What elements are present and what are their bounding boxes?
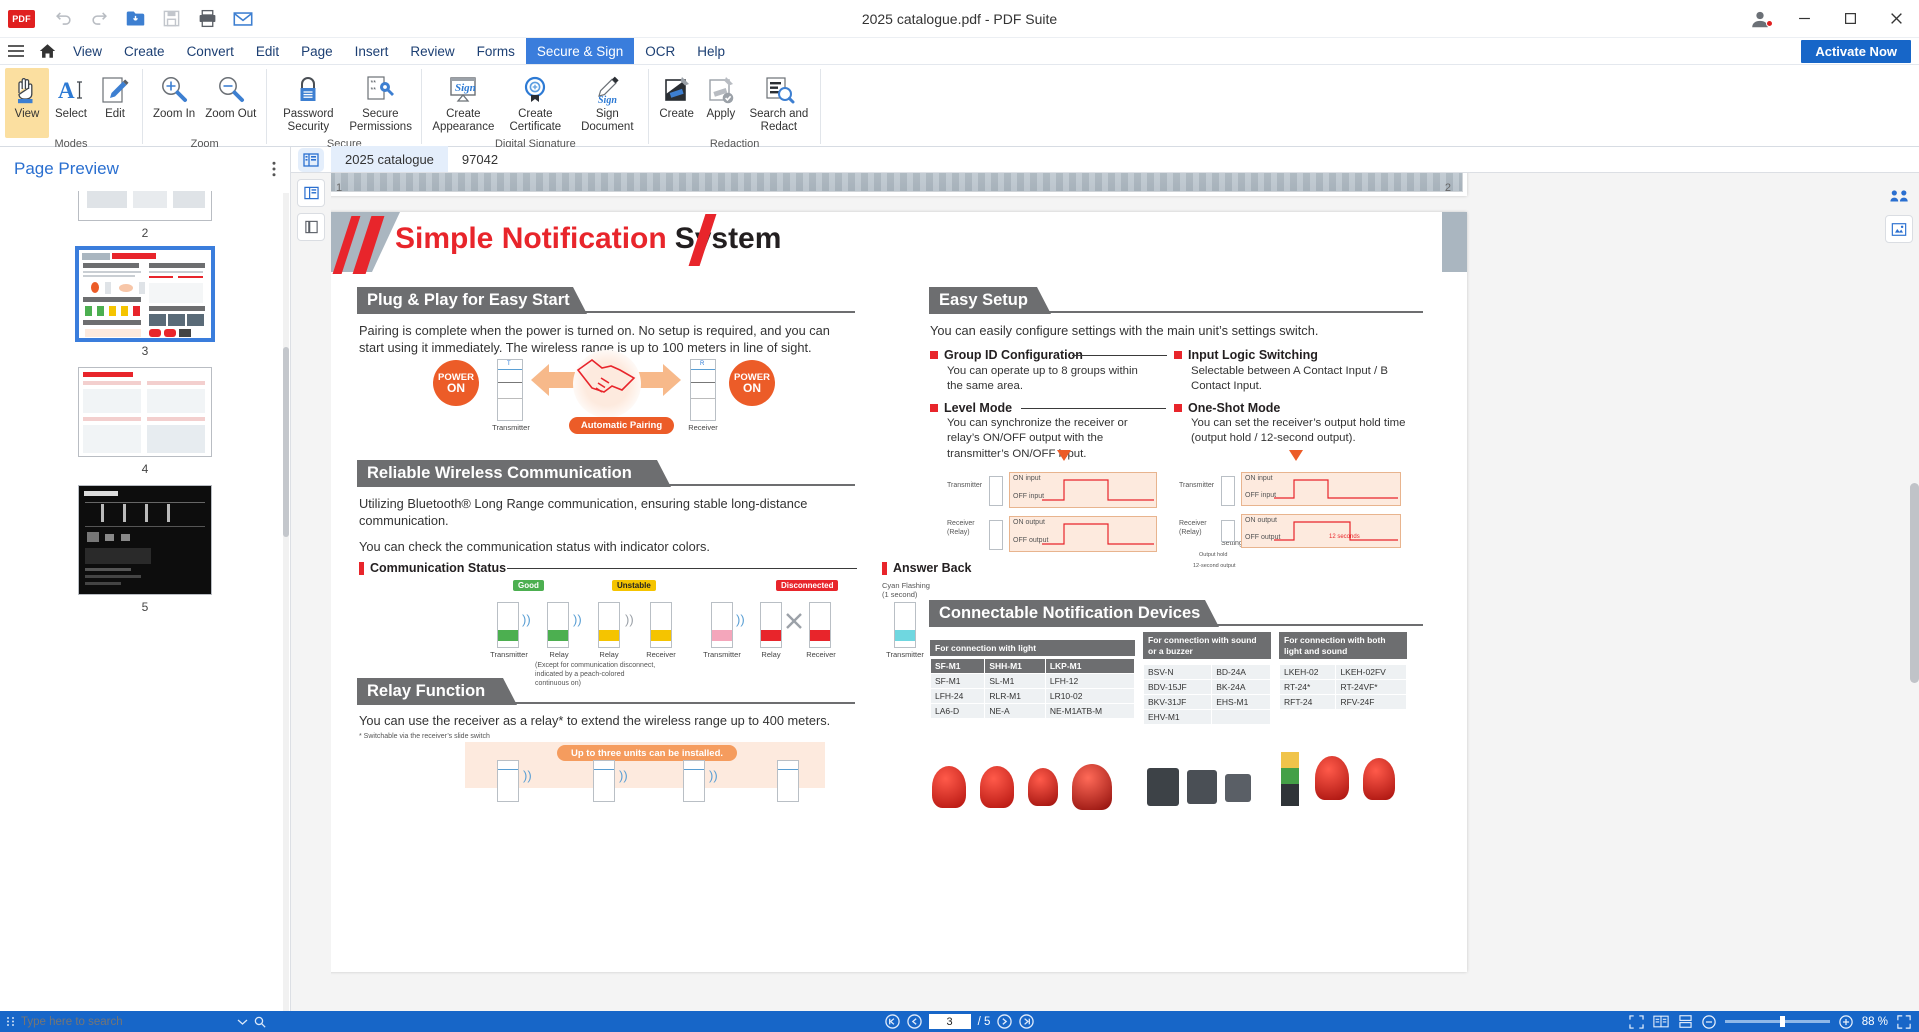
section-rule xyxy=(1217,624,1423,626)
close-button[interactable] xyxy=(1873,0,1919,38)
table-caption-both: For connection with both light and sound xyxy=(1279,632,1407,659)
password-security-label: Password Security xyxy=(277,108,339,133)
svg-text:Sign: Sign xyxy=(598,95,617,106)
table-both: LKEH-02 LKEH-02FV RT-24* RT-24VF* RFT-24… xyxy=(1279,664,1407,710)
answer-back-note: Cyan Flashing (1 second) xyxy=(882,581,972,600)
table-row: RFT-24 RFV-24F xyxy=(1280,695,1407,710)
zoom-slider-knob[interactable] xyxy=(1780,1016,1785,1027)
page-label-left: 1 xyxy=(336,182,342,194)
beacon-light xyxy=(1072,764,1112,810)
continuous-scroll-icon[interactable] xyxy=(1678,1015,1693,1028)
sidebar-scrollbar-track[interactable] xyxy=(283,193,289,1011)
redaction-apply-label: Apply xyxy=(706,108,735,121)
table-caption-light: For connection with light xyxy=(930,640,1135,656)
section-body-reliable-2: You can check the communication status w… xyxy=(359,538,849,555)
hand-icon xyxy=(12,70,42,106)
redact-create-icon xyxy=(662,70,692,106)
page-preview-title: Page Preview xyxy=(14,159,119,179)
fit-page-icon[interactable] xyxy=(1629,1015,1644,1029)
maximize-button[interactable] xyxy=(1827,0,1873,38)
email-icon[interactable] xyxy=(227,3,259,35)
section-body-reliable-1: Utilizing Bluetooth® Long Range communic… xyxy=(359,495,839,530)
search-redact-icon xyxy=(763,70,795,106)
status-device xyxy=(894,602,916,648)
table-cell: RLR-M1 xyxy=(985,689,1046,704)
table-row: SF-M1 SL-M1 LFH-12 xyxy=(931,674,1135,689)
table-caption-sound: For connection with sound or a buzzer xyxy=(1143,632,1271,659)
section-body-easy-setup: You can easily configure settings with t… xyxy=(930,322,1410,339)
section-footnote-reliable: (Except for communication disconnect, in… xyxy=(535,662,735,688)
panel-toggle-icon-col xyxy=(291,148,331,172)
quick-access-toolbar xyxy=(47,3,259,35)
table-cell: LKEH-02FV xyxy=(1336,665,1407,680)
table-row: LA6-D NE-A NE-M1ATB-M xyxy=(931,704,1135,719)
document-tabstrip: 2025 catalogue 97042 xyxy=(291,147,1919,173)
page-preview-panel: Page Preview 2 xyxy=(0,147,291,1011)
feature-title-level-mode: Level Mode xyxy=(930,401,1012,415)
window-title: 2025 catalogue.pdf - PDF Suite xyxy=(0,11,1919,27)
buzzer-device xyxy=(1225,774,1251,802)
arrow-right-icon xyxy=(635,362,683,412)
table-cell xyxy=(1212,710,1271,725)
section-heading-plug-and-play: Plug & Play for Easy Start xyxy=(357,287,587,314)
table-cell: EHV-M1 xyxy=(1144,710,1212,725)
down-arrow-icon xyxy=(1289,448,1303,462)
save-as-icon[interactable] xyxy=(119,3,151,35)
beacon-light xyxy=(980,766,1014,808)
status-tag-good: Good xyxy=(513,580,544,591)
viewer-right-rail xyxy=(1879,173,1919,1011)
svg-text:**: ** xyxy=(371,87,377,94)
chevron-down-icon[interactable] xyxy=(237,1018,248,1026)
red-bar-marker xyxy=(882,562,887,575)
search-and-redact-label: Search and Redact xyxy=(748,108,810,133)
page-preview-options-icon[interactable] xyxy=(272,161,276,177)
table-cell: NE-M1ATB-M xyxy=(1045,704,1134,719)
certificate-icon xyxy=(520,70,550,106)
svg-text:**: ** xyxy=(371,80,377,87)
page-thumbnail-selected[interactable] xyxy=(78,249,212,339)
status-device xyxy=(760,602,782,648)
select-mode-label: Select xyxy=(55,108,87,121)
save-icon[interactable] xyxy=(155,3,187,35)
timing-diagram-one-shot: Transmitter Receiver (Relay) Setting ON … xyxy=(1179,462,1409,572)
page-number-label: 3 xyxy=(142,344,149,358)
device-photo-row-lights xyxy=(930,762,1130,812)
power-on-left: POWER ON xyxy=(433,360,479,406)
search-input[interactable] xyxy=(21,1016,231,1028)
viewer-left-rail xyxy=(291,173,331,1011)
power-label-bottom: ON xyxy=(743,383,761,394)
create-certificate-button[interactable]: Create Certificate xyxy=(499,68,571,138)
view-mode-button[interactable]: View xyxy=(5,68,49,138)
signal-wave-icon: )) xyxy=(523,768,532,783)
zoom-out-label: Zoom Out xyxy=(205,108,256,121)
down-arrow-icon xyxy=(1057,448,1071,462)
table-cell: RFV-24F xyxy=(1336,695,1407,710)
key-document-icon: ** ** xyxy=(364,70,396,106)
timing-device-transmitter xyxy=(989,476,1003,506)
page-thumbnails-toggle[interactable] xyxy=(298,148,324,172)
search-icon[interactable] xyxy=(254,1016,266,1028)
timing-device-transmitter xyxy=(1221,476,1235,506)
relay-device xyxy=(683,760,705,802)
status-device xyxy=(809,602,831,648)
secure-permissions-label: Secure Permissions xyxy=(349,108,411,133)
table-sound: BSV-N BD-24A BDV-15JF BK-24A BKV-31JF EH… xyxy=(1143,664,1271,725)
table-cell: LA6-D xyxy=(931,704,985,719)
status-device xyxy=(497,602,519,648)
notification-dot xyxy=(1766,20,1773,27)
status-tag-disconnected: Disconnected xyxy=(776,580,838,591)
menu-item-page[interactable]: Page xyxy=(290,38,344,64)
device-label: Transmitter xyxy=(879,650,931,659)
beacon-light xyxy=(1028,768,1058,806)
device-label-transmitter: Transmitter xyxy=(487,423,535,432)
power-on-right: POWER ON xyxy=(729,360,775,406)
feature-body-input-logic: Selectable between A Contact Input / B C… xyxy=(1191,364,1411,395)
sign-document-button[interactable]: Sign Sign Document xyxy=(571,68,643,138)
print-icon[interactable] xyxy=(191,3,223,35)
account-avatar[interactable] xyxy=(1739,0,1781,38)
feature-label: Level Mode xyxy=(944,401,1012,415)
table-cell: RFT-24 xyxy=(1280,695,1336,710)
signal-wave-icon: )) xyxy=(625,612,634,627)
table-cell: SL-M1 xyxy=(985,674,1046,689)
table-light: SF-M1 SHH-M1 LKP-M1 SF-M1 SL-M1 LFH-12 L… xyxy=(930,658,1135,719)
section-body-relay: You can use the receiver as a relay* to … xyxy=(359,712,859,729)
timing-waveform xyxy=(1042,472,1154,552)
feature-label: Input Logic Switching xyxy=(1188,348,1318,362)
current-page-input[interactable] xyxy=(929,1014,971,1029)
timing-label-transmitter: Transmitter xyxy=(1179,482,1214,491)
section-heading-relay-function: Relay Function xyxy=(357,678,517,705)
device-transmitter-left: T xyxy=(497,359,523,421)
table-cell: BD-24A xyxy=(1212,665,1271,680)
activate-now-button[interactable]: Activate Now xyxy=(1801,40,1911,63)
sign-board-icon: Sign xyxy=(446,70,480,106)
list-item[interactable]: 4 xyxy=(0,367,290,485)
sign-document-label: Sign Document xyxy=(576,108,638,133)
svg-text:Sign: Sign xyxy=(455,82,476,94)
timing-row-label: ON input xyxy=(1245,475,1273,484)
feature-rule xyxy=(1072,355,1167,356)
menu-item-view[interactable]: View xyxy=(62,38,113,64)
device-photo-row-combo xyxy=(1277,752,1417,812)
page-title-black: System xyxy=(675,222,782,256)
section-footnote-relay: * Switchable via the receiver’s slide sw… xyxy=(359,733,659,742)
timing-device-receiver xyxy=(1221,520,1235,542)
subheading-rule xyxy=(507,568,857,569)
ribbon-divider xyxy=(820,69,821,144)
create-appearance-label: Create Appearance xyxy=(432,108,494,133)
page-label-right: 2 xyxy=(1445,182,1451,194)
redaction-apply-button[interactable]: Apply xyxy=(699,68,743,138)
svg-text:A: A xyxy=(58,78,75,103)
table-cell: BK-24A xyxy=(1212,680,1271,695)
table-cell: BDV-15JF xyxy=(1144,680,1212,695)
switch-label-12-second: 12-second output xyxy=(1193,563,1236,570)
table-cell: LR10-02 xyxy=(1045,689,1134,704)
ribbon-group-digital-signature: Sign Create Appearance Create Certificat… xyxy=(422,65,648,146)
table-cell: BKV-31JF xyxy=(1144,695,1212,710)
relay-device xyxy=(777,760,799,802)
total-pages-label: / 5 xyxy=(978,1016,991,1028)
status-device xyxy=(711,602,733,648)
menu-item-forms[interactable]: Forms xyxy=(466,38,526,64)
table-cell: SF-M1 xyxy=(931,659,985,674)
timing-row-label: OFF input xyxy=(1013,493,1044,502)
arrow-left-icon xyxy=(529,362,577,412)
red-square-marker xyxy=(1174,404,1182,412)
table-cell: LKEH-02 xyxy=(1280,665,1336,680)
timing-row-label: OFF input xyxy=(1245,492,1276,501)
sidebar-scrollbar-thumb[interactable] xyxy=(283,347,289,537)
table-cell: LFH-12 xyxy=(1045,674,1134,689)
feature-body-level-mode: You can synchronize the receiver or rela… xyxy=(947,416,1162,462)
table-row: BSV-N BD-24A xyxy=(1144,665,1271,680)
hamburger-menu-icon[interactable] xyxy=(0,38,32,64)
section-heading-easy-setup: Easy Setup xyxy=(929,287,1051,314)
device-label: Relay xyxy=(747,650,795,659)
timing-label-receiver: Receiver (Relay) xyxy=(947,520,975,538)
relay-banner-pill: Up to three units can be installed. xyxy=(557,745,737,761)
single-page-icon[interactable] xyxy=(1653,1015,1669,1028)
signal-wave-icon: )) xyxy=(619,768,628,783)
automatic-pairing-pill: Automatic Pairing xyxy=(569,417,674,434)
redaction-create-label: Create xyxy=(659,108,694,121)
table-row: RT-24* RT-24VF* xyxy=(1280,680,1407,695)
menu-item-convert[interactable]: Convert xyxy=(176,38,245,64)
zoom-out-icon xyxy=(216,70,246,106)
section-heading-reliable-wireless: Reliable Wireless Communication xyxy=(357,460,671,487)
first-page-icon[interactable] xyxy=(885,1014,900,1029)
menu-item-create[interactable]: Create xyxy=(113,38,176,64)
lock-icon xyxy=(293,70,323,106)
secure-permissions-button[interactable]: ** ** Secure Permissions xyxy=(344,68,416,138)
feature-body-group-id: You can operate up to 8 groups within th… xyxy=(947,364,1147,395)
pdf-page-previous[interactable]: 1 2 xyxy=(317,173,1467,196)
page-layout-icon[interactable] xyxy=(297,179,325,207)
section-rule xyxy=(585,311,855,313)
beacon-light xyxy=(1363,758,1395,800)
search-box[interactable] xyxy=(21,1016,231,1028)
disconnect-cross-icon xyxy=(783,610,805,632)
red-square-marker xyxy=(1174,351,1182,359)
menu-item-review[interactable]: Review xyxy=(399,38,465,64)
page-number-label: 4 xyxy=(142,462,149,476)
page-thumbnail[interactable] xyxy=(78,191,212,221)
status-device xyxy=(650,602,672,648)
timing-label-transmitter: Transmitter xyxy=(947,482,982,491)
timing-device-receiver xyxy=(989,520,1003,550)
red-bar-marker xyxy=(359,562,364,575)
status-bar: / 5 88 % xyxy=(0,1011,1919,1032)
red-square-marker xyxy=(930,404,938,412)
table-cell: EHS-M1 xyxy=(1212,695,1271,710)
menu-item-help[interactable]: Help xyxy=(686,38,736,64)
view-mode-label: View xyxy=(15,108,40,121)
ribbon-group-redaction: Create Apply xyxy=(649,65,820,146)
signal-wave-icon: )) xyxy=(709,768,718,783)
table-cell: LFH-24 xyxy=(931,689,985,704)
timing-row-label: ON input xyxy=(1013,475,1041,484)
feature-title-input-logic: Input Logic Switching xyxy=(1174,348,1318,362)
table-cell: SF-M1 xyxy=(931,674,985,689)
feature-label: Group ID Configuration xyxy=(944,348,1083,362)
table-cell: RT-24VF* xyxy=(1336,680,1407,695)
section-rule xyxy=(1049,311,1423,313)
section-rule xyxy=(669,484,855,486)
signal-wave-icon: )) xyxy=(573,612,582,627)
feature-title-group-id: Group ID Configuration xyxy=(930,348,1083,362)
device-label: Transmitter xyxy=(696,650,748,659)
bookmarks-icon[interactable] xyxy=(297,213,325,241)
main-area: Page Preview 2 xyxy=(0,147,1919,1011)
page-thumbnail[interactable] xyxy=(78,485,212,595)
create-appearance-button[interactable]: Sign Create Appearance xyxy=(427,68,499,138)
list-item[interactable]: 2 xyxy=(0,191,290,249)
zoom-out-button[interactable]: Zoom Out xyxy=(200,68,261,138)
ribbon-group-zoom: Zoom In Zoom Out Zoom xyxy=(143,65,266,146)
table-row: BKV-31JF EHS-M1 xyxy=(1144,695,1271,710)
status-device xyxy=(547,602,569,648)
table-row: LFH-24 RLR-M1 LR10-02 xyxy=(931,689,1135,704)
sign-pen-icon: Sign xyxy=(591,70,623,106)
relay-device xyxy=(593,760,615,802)
device-receiver-right: R xyxy=(690,359,716,421)
ribbon-group-secure: Password Security ** ** Secure Permissio… xyxy=(267,65,421,146)
switch-label-output-hold: Output hold xyxy=(1199,552,1227,559)
zoom-in-icon xyxy=(159,70,189,106)
tab-2025-catalogue[interactable]: 2025 catalogue xyxy=(331,146,448,172)
list-item[interactable]: 5 xyxy=(0,485,290,623)
table-cell: BSV-N xyxy=(1144,665,1212,680)
share-icon[interactable] xyxy=(1885,181,1913,209)
title-bar: PDF 2025 catalogue.pdf - PDF Suite xyxy=(0,0,1919,38)
page-title-red: Simple Notification xyxy=(395,222,667,256)
search-and-redact-button[interactable]: Search and Redact xyxy=(743,68,815,138)
page-title: Simple Notification System xyxy=(395,222,781,256)
pdf-page-current[interactable]: Simple Notification System Plug & Play f… xyxy=(317,212,1467,972)
subheading-label: Communication Status xyxy=(370,561,506,575)
page-number-label: 2 xyxy=(142,226,149,240)
device-label: Transmitter xyxy=(483,650,535,659)
text-select-icon: A xyxy=(56,70,86,106)
table-cell: SHH-M1 xyxy=(985,659,1046,674)
device-label: Relay xyxy=(585,650,633,659)
list-item[interactable]: 3 xyxy=(0,249,290,367)
password-security-button[interactable]: Password Security xyxy=(272,68,344,138)
feature-label: One-Shot Mode xyxy=(1188,401,1280,415)
device-label: Receiver xyxy=(795,650,847,659)
zoom-in-label: Zoom In xyxy=(153,108,195,121)
table-row: SF-M1 SHH-M1 LKP-M1 xyxy=(931,659,1135,674)
title-band-right xyxy=(1442,212,1467,272)
handshake-icon xyxy=(575,354,641,408)
last-page-icon[interactable] xyxy=(1019,1014,1034,1029)
minimize-button[interactable] xyxy=(1781,0,1827,38)
ribbon-group-modes: View A Select xyxy=(0,65,142,146)
table-cell: RT-24* xyxy=(1280,680,1336,695)
device-label: Relay xyxy=(535,650,583,659)
red-square-marker xyxy=(930,351,938,359)
page-thumbnail[interactable] xyxy=(78,367,212,457)
section-heading-connectable-devices: Connectable Notification Devices xyxy=(929,600,1219,627)
edit-mode-label: Edit xyxy=(105,108,125,121)
timing-row-label: ON output xyxy=(1013,519,1045,528)
select-mode-button[interactable]: A Select xyxy=(49,68,93,138)
feature-rule xyxy=(1021,408,1166,409)
buzzer-device xyxy=(1147,768,1179,806)
document-viewer: 2025 catalogue 97042 xyxy=(291,147,1919,1011)
page-thumbnail-list[interactable]: 2 xyxy=(0,191,290,1011)
timing-diagram-level-mode: Transmitter Receiver (Relay) ON input OF… xyxy=(947,462,1157,572)
menu-item-insert[interactable]: Insert xyxy=(344,38,400,64)
timing-waveform xyxy=(1274,472,1398,552)
status-device xyxy=(598,602,620,648)
next-page-icon[interactable] xyxy=(997,1014,1012,1029)
device-label-receiver: Receiver xyxy=(679,423,727,432)
zoom-in-icon[interactable] xyxy=(1839,1015,1853,1029)
window-controls xyxy=(1739,0,1919,38)
timing-row-label: ON output xyxy=(1245,517,1277,526)
menu-bar: View Create Convert Edit Page Insert Rev… xyxy=(0,38,1919,65)
tab-97042[interactable]: 97042 xyxy=(448,146,512,172)
table-row: EHV-M1 xyxy=(1144,710,1271,725)
prev-page-icon[interactable] xyxy=(907,1014,922,1029)
hero-photo xyxy=(321,173,1463,192)
fullscreen-icon[interactable] xyxy=(1897,1015,1911,1029)
redaction-create-button[interactable]: Create xyxy=(654,68,699,138)
edit-pencil-icon xyxy=(100,70,130,106)
status-bar-right: 88 % xyxy=(1629,1015,1919,1029)
relay-device xyxy=(497,760,519,802)
zoom-slider[interactable] xyxy=(1725,1020,1830,1023)
table-row: BDV-15JF BK-24A xyxy=(1144,680,1271,695)
device-photo-row-buzzers xyxy=(1147,764,1267,812)
status-tag-unstable: Unstable xyxy=(612,580,656,591)
zoom-level-label[interactable]: 88 % xyxy=(1862,1016,1888,1028)
beacon-light xyxy=(1315,756,1349,800)
edit-mode-button[interactable]: Edit xyxy=(93,68,137,138)
timing-label-receiver: Receiver (Relay) xyxy=(1179,520,1207,538)
menu-item-ocr[interactable]: OCR xyxy=(634,38,686,64)
table-cell: NE-A xyxy=(985,704,1046,719)
create-certificate-label: Create Certificate xyxy=(504,108,566,133)
table-cell: LKP-M1 xyxy=(1045,659,1134,674)
redact-apply-icon xyxy=(706,70,736,106)
stamp-icon[interactable] xyxy=(1885,215,1913,243)
menu-item-edit[interactable]: Edit xyxy=(245,38,290,64)
viewer-canvas[interactable]: 1 2 Simple Notification System xyxy=(291,173,1919,1011)
subheading-communication-status: Communication Status xyxy=(359,561,506,575)
ribbon-toolbar: View A Select xyxy=(0,65,1919,147)
zoom-out-icon[interactable] xyxy=(1702,1015,1716,1029)
page-preview-header: Page Preview xyxy=(0,147,290,191)
menu-item-secure-and-sign[interactable]: Secure & Sign xyxy=(526,38,634,64)
status-bar-left xyxy=(0,1016,266,1028)
undo-icon[interactable] xyxy=(47,3,79,35)
grid-handle-icon xyxy=(6,1016,15,1027)
beacon-light xyxy=(932,766,966,808)
feature-body-one-shot: You can set the receiver’s output hold t… xyxy=(1191,416,1416,447)
buzzer-device xyxy=(1187,770,1217,804)
table-row: LKEH-02 LKEH-02FV xyxy=(1280,665,1407,680)
zoom-in-button[interactable]: Zoom In xyxy=(148,68,200,138)
redo-icon[interactable] xyxy=(83,3,115,35)
home-icon[interactable] xyxy=(32,38,62,64)
